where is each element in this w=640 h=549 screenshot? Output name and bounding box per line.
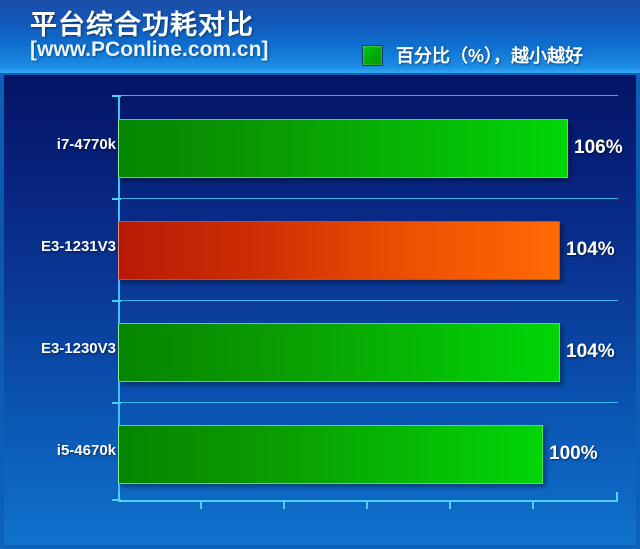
x-axis-tick [616,492,618,502]
gridline [118,95,618,96]
x-axis [118,500,618,502]
x-axis-tick [200,500,202,509]
x-axis-tick [283,500,285,509]
legend-label: 百分比（%），越小越好 [396,42,583,68]
category-label-row: i7-4770k [4,136,116,160]
value-label: 104% [566,341,615,363]
source-url-label: [www.PConline.com.cn] [30,38,268,62]
legend-green-square-icon [362,45,383,66]
category-label: E3-1231V3 [11,238,116,255]
x-axis-tick [449,500,451,509]
y-axis-tick [112,402,121,404]
category-label-row: E3-1230V3 [4,340,116,364]
x-axis-tick [532,500,534,509]
bar-i7-4770k [118,119,568,178]
category-label-row: i5-4670k [4,442,116,466]
chart-legend: 百分比（%），越小越好 [362,42,583,68]
category-label: i5-4670k [11,442,116,459]
gridline [118,402,618,403]
y-axis-tick [112,198,121,200]
bar-e3-1231v3 [118,221,560,280]
category-label: i7-4770k [11,136,116,153]
y-axis-tick [112,300,121,302]
chart-header: 平台综合功耗对比 [www.PConline.com.cn] 百分比（%），越小… [0,0,640,73]
x-axis-tick [366,500,368,509]
value-label: 104% [566,239,615,261]
plot-area: i7-4770k 106% E3-1231V3 104% E3-1230V3 1… [4,75,636,545]
x-axis-tick [118,492,120,502]
value-label: 100% [549,443,598,465]
category-label-row: E3-1231V3 [4,238,116,262]
value-label: 106% [574,137,623,159]
gridline [118,300,618,301]
y-axis-tick [112,95,121,97]
page-title: 平台综合功耗对比 [30,3,254,42]
gridline [118,198,618,199]
bar-e3-1230v3 [118,323,560,382]
bar-i5-4670k [118,425,543,484]
category-label: E3-1230V3 [11,340,116,357]
chart-screenshot: 平台综合功耗对比 [www.PConline.com.cn] 百分比（%），越小… [0,0,640,549]
